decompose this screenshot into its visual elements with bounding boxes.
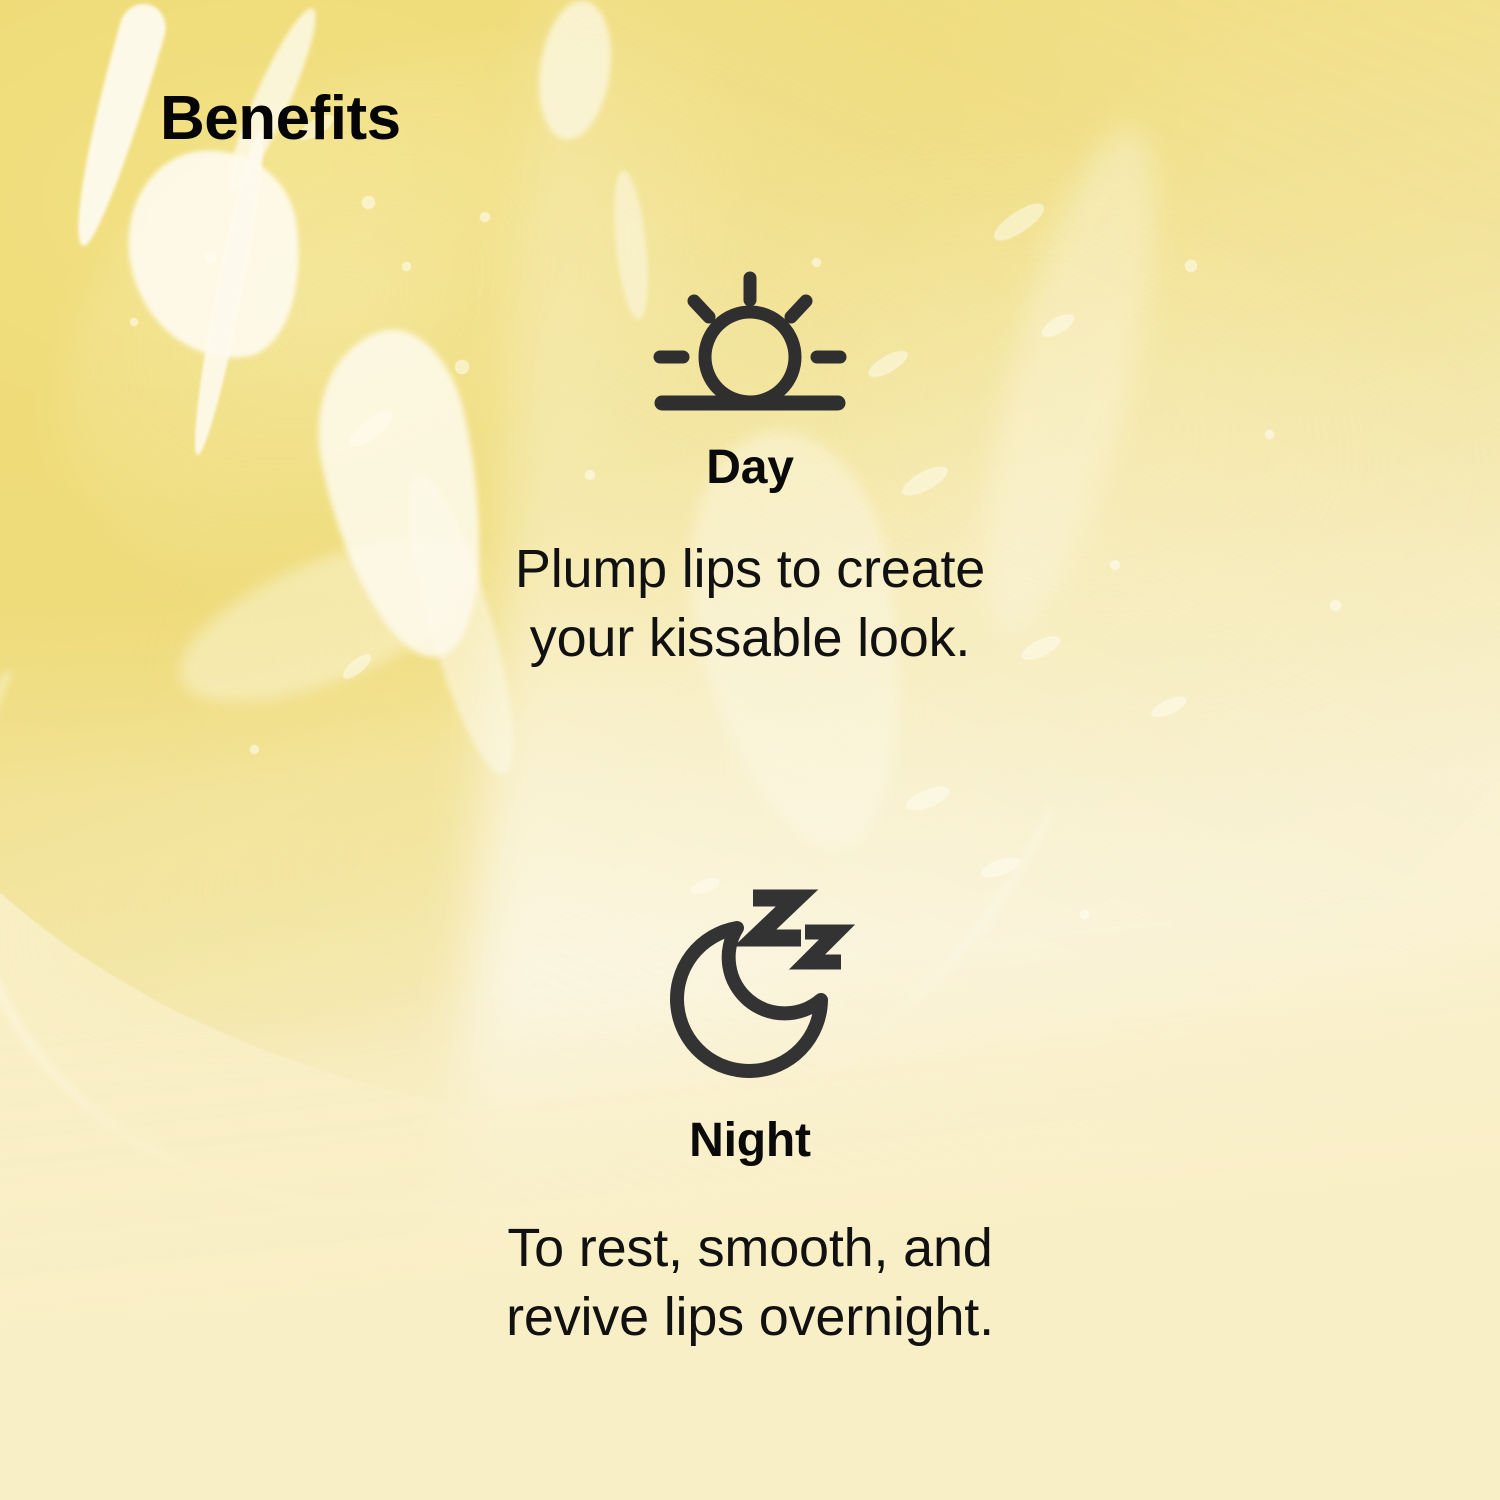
benefits-infographic: Benefits	[0, 0, 1500, 1500]
moon-zzz-icon	[0, 880, 1500, 1095]
benefit-body-line: Plump lips to create	[0, 535, 1500, 604]
benefit-body-line: To rest, smooth, and	[0, 1214, 1500, 1283]
benefit-heading-night: Night	[0, 1113, 1500, 1168]
benefit-section-night: Night To rest, smooth, and revive lips o…	[0, 880, 1500, 1352]
benefit-section-day: Day Plump lips to create your kissable l…	[0, 262, 1500, 673]
benefit-body-night: To rest, smooth, and revive lips overnig…	[0, 1214, 1500, 1352]
page-title: Benefits	[160, 88, 401, 150]
benefit-body-line: revive lips overnight.	[0, 1283, 1500, 1352]
content-layer: Benefits	[0, 0, 1500, 1500]
sunrise-icon	[0, 262, 1500, 412]
benefit-body-line: your kissable look.	[0, 604, 1500, 673]
benefit-body-day: Plump lips to create your kissable look.	[0, 535, 1500, 673]
benefit-heading-day: Day	[0, 440, 1500, 495]
